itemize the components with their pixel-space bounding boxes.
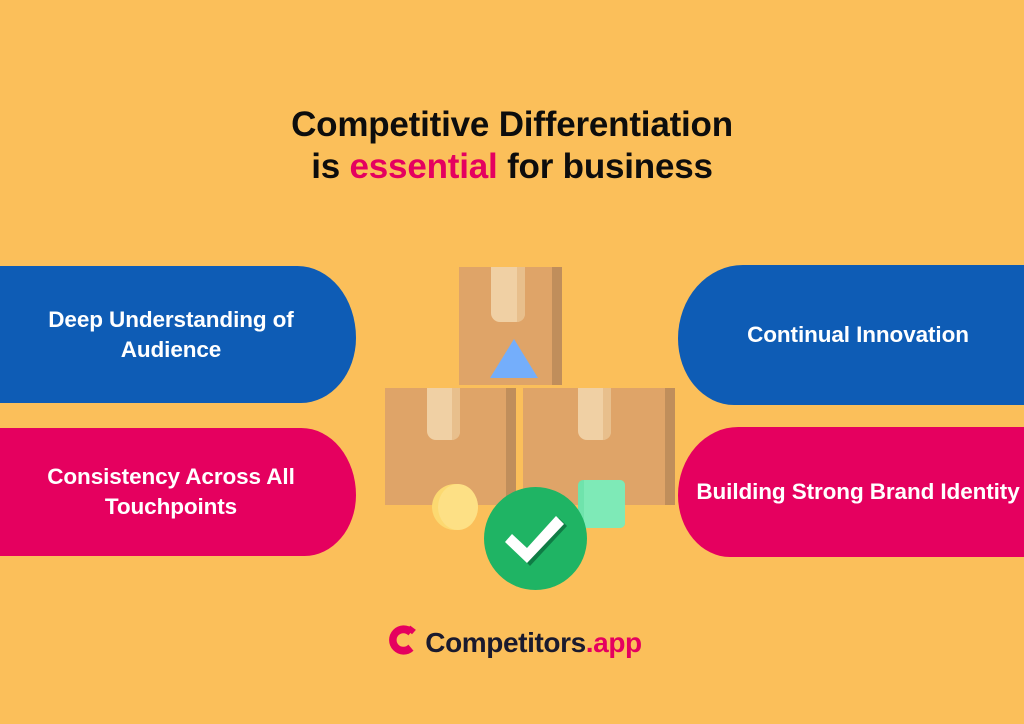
box-bottom-right-tape-icon — [578, 388, 611, 440]
card-consistency-across-touchpoints[interactable]: Consistency Across All Touchpoints — [0, 428, 356, 556]
title-line-2-after: for business — [498, 147, 713, 186]
box-top-shadow-edge — [552, 267, 562, 385]
title-line-2: is essential for business — [0, 146, 1024, 188]
yellow-circle-highlight — [438, 484, 478, 530]
logo-tld: .app — [586, 627, 642, 658]
card-deep-understanding[interactable]: Deep Understanding of Audience — [0, 266, 356, 403]
box-bottom-right-shadow-edge — [665, 388, 675, 505]
box-bottom-left-tape-icon — [427, 388, 460, 440]
card-building-strong-brand-identity[interactable]: Building Strong Brand Identity — [678, 427, 1024, 557]
card-consistency-label: Consistency Across All Touchpoints — [0, 462, 356, 521]
card-deep-understanding-label: Deep Understanding of Audience — [0, 305, 356, 364]
card-continual-innovation[interactable]: Continual Innovation — [678, 265, 1024, 405]
box-bottom-left-tape-edge — [452, 388, 460, 440]
title-emphasis-essential: essential — [350, 147, 498, 186]
logo-name: Competitors — [425, 627, 586, 658]
green-square-highlight — [584, 480, 625, 528]
box-top-tape-icon — [491, 267, 525, 322]
page-title: Competitive Differentiation is essential… — [0, 104, 1024, 187]
box-top-tape-edge — [517, 267, 525, 322]
green-check-badge-icon — [484, 487, 587, 590]
card-continual-innovation-label: Continual Innovation — [733, 320, 983, 350]
box-bottom-right-tape-edge — [603, 388, 611, 440]
boxes-illustration — [385, 265, 675, 595]
blue-triangle-icon — [490, 339, 538, 378]
logo-wordmark: Competitors.app — [425, 627, 641, 659]
title-line-2-before: is — [311, 147, 349, 186]
title-line-1: Competitive Differentiation — [0, 104, 1024, 146]
competitors-c-icon — [382, 620, 422, 665]
competitors-app-logo[interactable]: Competitors.app — [0, 620, 1024, 665]
card-brand-identity-label: Building Strong Brand Identity — [682, 477, 1024, 507]
